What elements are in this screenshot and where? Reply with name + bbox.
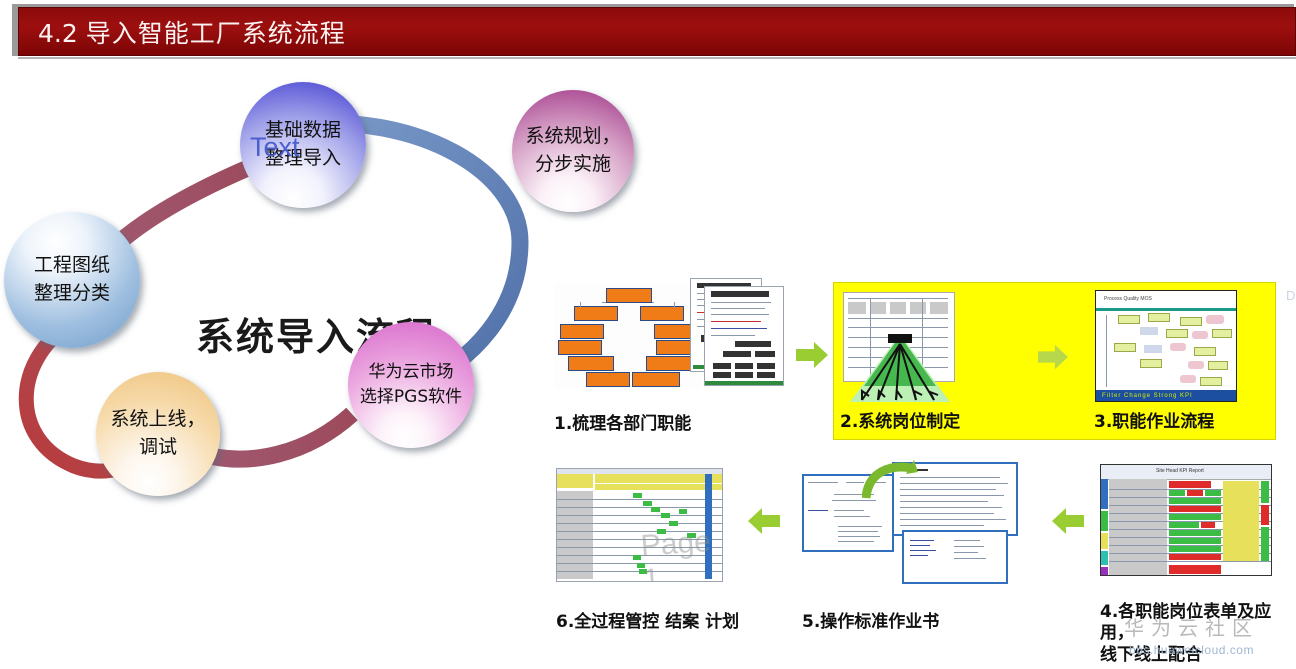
- thumb-kpi-report-title: Site Head KPI Report: [1156, 468, 1204, 474]
- cycle-diagram: Text 系统导入流程 工程图纸 整理分类 基础数据 整理导入 系统规划， 分步…: [0, 62, 540, 522]
- cycle-node-plan[interactable]: 系统规划， 分步实施: [512, 90, 634, 212]
- arrow-right-icon-1: [796, 342, 828, 368]
- arrow-right-icon-2: [1038, 344, 1068, 370]
- fan-diagram-icon: [840, 334, 960, 406]
- watermark-cn-text: 华为云社区: [1124, 612, 1259, 641]
- cycle-node-market-line2: 选择PGS软件: [360, 385, 462, 410]
- cycle-node-online-line1: 系统上线，: [110, 406, 205, 434]
- page-title-number: 4.2: [38, 19, 78, 48]
- step-label-1: 1.梳理各部门职能: [554, 414, 691, 435]
- thumb-filter-change-label: Filter Change Strong KPI: [1102, 393, 1193, 399]
- step-label-2: 2.系统岗位制定: [840, 412, 960, 433]
- edge-marker: D: [1286, 288, 1295, 303]
- step-label-3: 3.职能作业流程: [1094, 412, 1214, 433]
- arrow-left-icon-1: [748, 508, 780, 534]
- thumb-org-chart[interactable]: [554, 284, 702, 388]
- thumb-sop-doc-bottom[interactable]: [902, 530, 1008, 584]
- step-label-6: 6.全过程管控 结案 计划: [556, 612, 739, 633]
- arrow-left-icon-2: [1052, 508, 1084, 534]
- thumb-who-are-we-front[interactable]: [704, 286, 784, 386]
- site-watermark: 华为云社区 bbs.huaweicloud.com: [1124, 612, 1259, 657]
- thumb-kpi-report[interactable]: Site Head KPI Report: [1100, 464, 1272, 576]
- cycle-node-drawing-line1: 工程图纸: [34, 252, 110, 280]
- page-title-text: 导入智能工厂系统流程: [86, 19, 346, 48]
- cycle-node-online-line2: 调试: [139, 434, 177, 462]
- page-title: 4.2导入智能工厂系统流程: [38, 14, 346, 50]
- cycle-ghost-text: Text: [250, 132, 300, 163]
- curved-arrow-icon-1: [862, 458, 918, 502]
- cycle-node-plan-line2: 分步实施: [535, 151, 611, 179]
- thumb-gantt-plan[interactable]: Page 1: [556, 468, 723, 582]
- cycle-node-market[interactable]: 华为云市场 选择PGS软件: [348, 322, 474, 448]
- thumb-page-watermark: Page 1: [640, 524, 723, 582]
- cycle-node-online[interactable]: 系统上线， 调试: [96, 372, 220, 496]
- cycle-node-plan-line1: 系统规划，: [525, 123, 620, 151]
- cycle-node-market-line1: 华为云市场: [369, 360, 454, 385]
- watermark-url-text: bbs.huaweicloud.com: [1124, 643, 1259, 657]
- process-flow: 1.梳理各部门职能 2.系统岗位制定: [540, 272, 1296, 662]
- thumb-process-quality-title: Process Quality MOS: [1104, 296, 1152, 302]
- cycle-node-drawing-line2: 整理分类: [34, 280, 110, 308]
- header-underline: [18, 57, 1296, 59]
- cycle-node-drawing[interactable]: 工程图纸 整理分类: [4, 212, 140, 348]
- thumb-process-quality[interactable]: Process Quality MOS Filter Change Strong…: [1095, 290, 1237, 402]
- step-label-5: 5.操作标准作业书: [802, 612, 939, 633]
